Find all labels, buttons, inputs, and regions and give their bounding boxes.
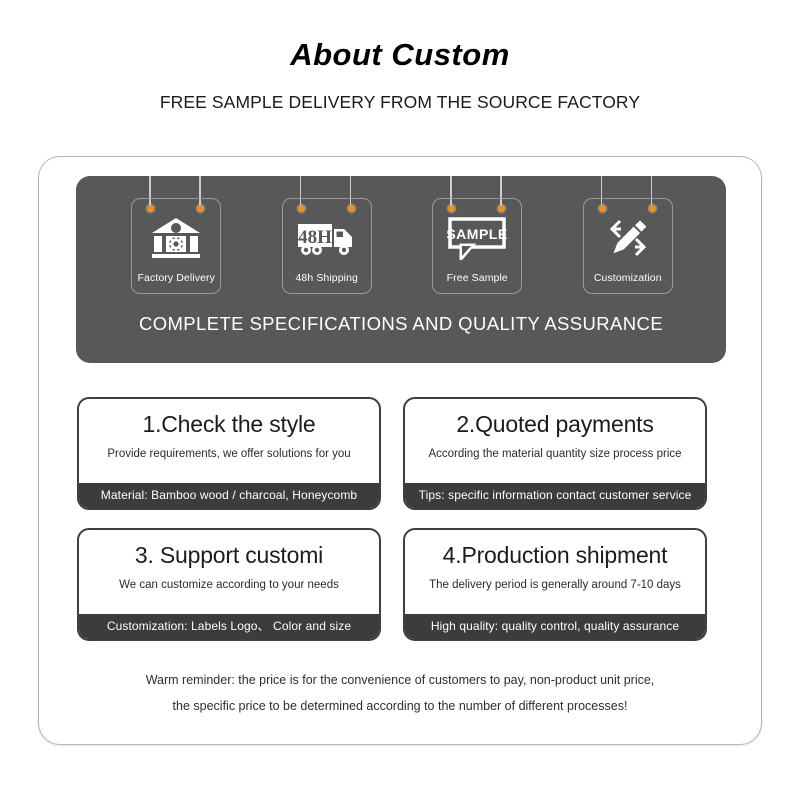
about-custom-page: About Custom FREE SAMPLE DELIVERY FROM T… — [0, 0, 800, 800]
feature-icon-label: Factory Delivery — [132, 272, 220, 284]
feature-panel: Factory Delivery 48H — [76, 176, 726, 363]
step-card[interactable]: 1.Check the style Provide requirements, … — [77, 397, 381, 510]
step-card[interactable]: 4.Production shipment The delivery perio… — [403, 528, 707, 641]
step-tag: Material: Bamboo wood / charcoal, Honeyc… — [79, 483, 379, 508]
svg-text:SAMPLE: SAMPLE — [447, 226, 507, 242]
step-title: 4.Production shipment — [405, 543, 705, 568]
step-card[interactable]: 2.Quoted payments According the material… — [403, 397, 707, 510]
page-title: About Custom — [0, 38, 800, 72]
footer-note: Warm reminder: the price is for the conv… — [39, 667, 761, 720]
orange-dot-right-icon — [348, 205, 355, 212]
steps-grid: 1.Check the style Provide requirements, … — [77, 397, 725, 641]
feature-icon-row: Factory Delivery 48H — [76, 176, 726, 300]
icon-card: Factory Delivery — [131, 198, 221, 294]
step-card[interactable]: 3. Support customi We can customize acco… — [77, 528, 381, 641]
page-subtitle: FREE SAMPLE DELIVERY FROM THE SOURCE FAC… — [0, 92, 800, 113]
orange-dot-right-icon — [197, 205, 204, 212]
feature-icon-factory-delivery[interactable]: Factory Delivery — [123, 176, 227, 300]
icon-card: Customization — [583, 198, 673, 294]
step-tag: Customization: Labels Logo、 Color and si… — [79, 614, 379, 639]
svg-text:48H: 48H — [298, 227, 332, 248]
step-title: 3. Support customi — [79, 543, 379, 568]
factory-building-gear-icon — [132, 213, 220, 263]
pencil-ruler-customization-icon — [584, 213, 672, 263]
step-tag: Tips: specific information contact custo… — [405, 483, 705, 508]
feature-icon-customization[interactable]: Customization — [575, 176, 679, 300]
orange-dot-left-icon — [298, 205, 305, 212]
orange-dot-right-icon — [649, 205, 656, 212]
icon-card: SAMPLE Free Sample — [432, 198, 522, 294]
feature-icon-free-sample[interactable]: SAMPLE Free Sample — [424, 176, 528, 300]
delivery-truck-48h-icon: 48H — [283, 213, 371, 263]
orange-dot-left-icon — [147, 205, 154, 212]
step-title: 1.Check the style — [79, 412, 379, 437]
feature-icon-label: 48h Shipping — [283, 272, 371, 284]
step-tag: High quality: quality control, quality a… — [405, 614, 705, 639]
page-header: About Custom FREE SAMPLE DELIVERY FROM T… — [0, 0, 800, 113]
step-description: We can customize according to your needs — [79, 579, 379, 591]
feature-icon-label: Free Sample — [433, 272, 521, 284]
feature-icon-label: Customization — [584, 272, 672, 284]
orange-dot-left-icon — [448, 205, 455, 212]
sample-speech-bubble-icon: SAMPLE — [433, 213, 521, 263]
footer-note-line-2: the specific price to be determined acco… — [39, 693, 761, 719]
step-description: The delivery period is generally around … — [405, 579, 705, 591]
icon-card: 48H — [282, 198, 372, 294]
content-container: Factory Delivery 48H — [38, 156, 762, 745]
orange-dot-right-icon — [498, 205, 505, 212]
step-description: According the material quantity size pro… — [405, 448, 705, 460]
footer-note-line-1: Warm reminder: the price is for the conv… — [39, 667, 761, 693]
step-description: Provide requirements, we offer solutions… — [79, 448, 379, 460]
feature-banner-text: COMPLETE SPECIFICATIONS AND QUALITY ASSU… — [76, 313, 726, 335]
feature-icon-48h-shipping[interactable]: 48H — [274, 176, 378, 300]
step-title: 2.Quoted payments — [405, 412, 705, 437]
orange-dot-left-icon — [599, 205, 606, 212]
